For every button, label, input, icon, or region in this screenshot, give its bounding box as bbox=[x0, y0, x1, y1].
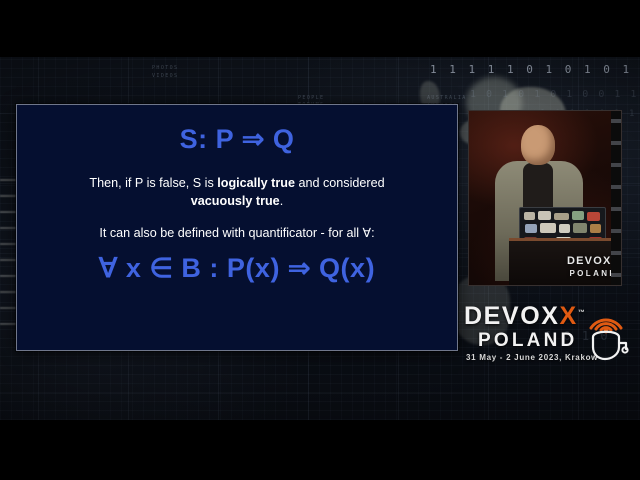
letterbox-bar-top bbox=[0, 0, 640, 57]
slide-content: S: P ⇒ Q Then, if P is false, S is logic… bbox=[17, 105, 457, 350]
laptop-sticker bbox=[587, 212, 600, 221]
slide-body-paragraph-1: Then, if P is false, S is logically true… bbox=[35, 175, 439, 211]
presentation-slide: S: P ⇒ Q Then, if P is false, S is logic… bbox=[16, 104, 458, 351]
speaker-webcam-thumbnail[interactable]: DEVOXX POLAND bbox=[468, 110, 622, 286]
laptop-sticker bbox=[540, 223, 556, 233]
laptop-sticker bbox=[554, 213, 569, 220]
slide-text-bold-vacuously-true: vacuously true bbox=[191, 194, 280, 208]
slide-text-segment-2: and considered bbox=[295, 176, 385, 190]
podium: DEVOXX POLAND bbox=[509, 238, 621, 285]
laptop-sticker bbox=[573, 223, 587, 233]
filmstrip-edge-decoration bbox=[611, 111, 621, 285]
laptop-sticker bbox=[559, 224, 570, 233]
video-frame: 1 1 1 1 1 0 1 0 1 0 1 0 0 1 0 1 1 0 1 0 … bbox=[0, 0, 640, 480]
laptop-sticker bbox=[525, 224, 537, 233]
brand-country-poland: POLAND bbox=[478, 331, 577, 350]
laptop-sticker bbox=[590, 224, 601, 233]
letterbox-bar-bottom bbox=[0, 420, 640, 480]
slide-formula-main: S: P ⇒ Q bbox=[35, 124, 439, 155]
laptop-sticker bbox=[524, 212, 535, 220]
brand-name-devoxx: DEVOXX™ bbox=[464, 304, 585, 329]
brand-accent-x: X bbox=[560, 302, 578, 330]
signal-arc-over-head-profile-icon bbox=[581, 300, 633, 362]
brand-name-main: DEVOX bbox=[464, 302, 560, 330]
slide-text-segment-3: . bbox=[280, 194, 284, 208]
slide-text-bold-logically-true: logically true bbox=[217, 176, 295, 190]
slide-formula-quantified: ∀ x ∈ B : P(x) ⇒ Q(x) bbox=[35, 253, 439, 284]
slide-body-paragraph-2: It can also be defined with quantificato… bbox=[35, 225, 439, 243]
laptop-sticker bbox=[572, 211, 584, 220]
laptop-sticker bbox=[538, 211, 551, 220]
slide-text-segment-1: Then, if P is false, S is bbox=[89, 176, 217, 190]
speaker-head bbox=[521, 125, 555, 165]
brand-date-location: 31 May - 2 June 2023, Krakow bbox=[466, 353, 598, 362]
podium-logo-main: DEVOX bbox=[567, 255, 612, 267]
devoxx-poland-logo: DEVOXX™ POLAND 31 May - 2 June 2023, Kra… bbox=[460, 300, 635, 368]
